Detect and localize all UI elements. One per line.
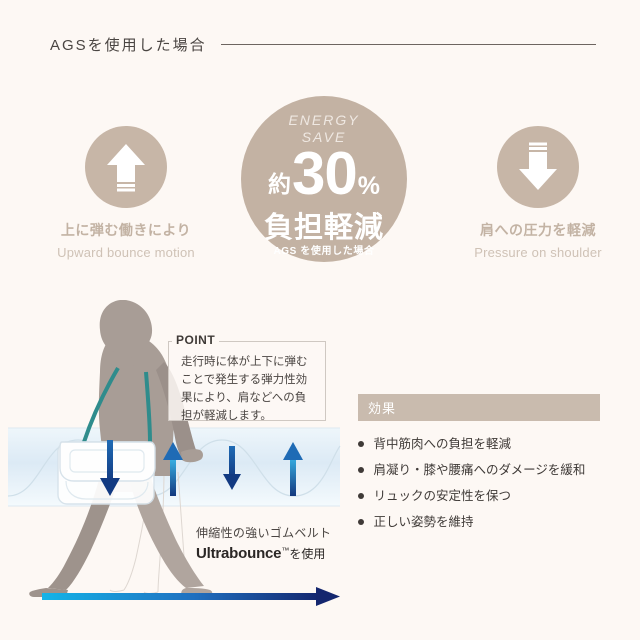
ultrabounce-line1: 伸縮性の強いゴムベルト	[196, 524, 376, 541]
badge-approx: 約	[268, 165, 291, 199]
badge-percent: %	[358, 172, 380, 201]
effects-list: 背中筋肉への負担を軽減 肩凝り・膝や腰痛へのダメージを緩和 リュックの安定性を保…	[358, 421, 600, 535]
effect-text: 正しい姿勢を維持	[373, 515, 473, 529]
ultrabounce-brand: Ultrabounce	[196, 545, 281, 562]
bullet-icon	[358, 441, 364, 447]
arrow-up-icon	[104, 141, 148, 193]
bullet-icon	[358, 467, 364, 473]
pressure-shoulder-circle	[497, 126, 579, 208]
upward-bounce-block: 上に弾む働きにより Upward bounce motion	[26, 126, 226, 260]
badge-note: AGS を使用した場合	[241, 242, 407, 257]
ultrabounce-caption: 伸縮性の強いゴムベルト Ultrabounce™を使用	[196, 524, 376, 562]
energy-save-badge: ENERGY SAVE 約 30 % 負担軽減 AGS を使用した場合	[241, 96, 407, 262]
list-item: 正しい姿勢を維持	[358, 509, 600, 535]
upward-bounce-circle	[85, 126, 167, 208]
list-item: 背中筋肉への負担を軽減	[358, 431, 600, 457]
badge-number: 30	[292, 146, 357, 202]
upward-bounce-label-jp: 上に弾む働きにより	[26, 220, 226, 240]
list-item: 肩凝り・膝や腰痛へのダメージを緩和	[358, 457, 600, 483]
infographic-page: AGSを使用した場合 上に弾む働きにより Upward bounce motio…	[0, 0, 640, 640]
badge-subtitle: 負担軽減	[241, 204, 407, 246]
ultrabounce-suffix: を使用	[289, 547, 325, 561]
effect-text: リュックの安定性を保つ	[373, 489, 511, 503]
pressure-shoulder-label-jp: 肩への圧力を軽減	[438, 220, 638, 240]
upward-bounce-label-en: Upward bounce motion	[26, 245, 226, 260]
badge-main-figure: 約 30 %	[241, 146, 407, 202]
list-item: リュックの安定性を保つ	[358, 483, 600, 509]
point-text: 走行時に体が上下に弾むことで発生する弾力性効果により、肩などへの負担が軽減します…	[169, 342, 325, 425]
pressure-shoulder-block: 肩への圧力を軽減 Pressure on shoulder	[438, 126, 638, 260]
ultrabounce-line2: Ultrabounce™を使用	[196, 545, 376, 562]
section-header: AGSを使用した場合	[50, 32, 596, 56]
pressure-shoulder-label-en: Pressure on shoulder	[438, 245, 638, 260]
point-label: POINT	[172, 333, 219, 347]
arrow-down-icon	[516, 141, 560, 193]
effect-text: 肩凝り・膝や腰痛へのダメージを緩和	[373, 463, 585, 477]
messenger-bag	[58, 442, 155, 504]
point-box: POINT 走行時に体が上下に弾むことで発生する弾力性効果により、肩などへの負担…	[168, 341, 326, 421]
effects-heading: 効果	[358, 394, 600, 421]
header-divider	[221, 44, 596, 45]
effects-panel: 効果 背中筋肉への負担を軽減 肩凝り・膝や腰痛へのダメージを緩和 リュックの安定…	[358, 394, 600, 535]
badge-energy-line1: ENERGY	[241, 112, 407, 129]
page-title: AGSを使用した場合	[50, 34, 207, 55]
effect-text: 背中筋肉への負担を軽減	[373, 437, 511, 451]
bullet-icon	[358, 493, 364, 499]
